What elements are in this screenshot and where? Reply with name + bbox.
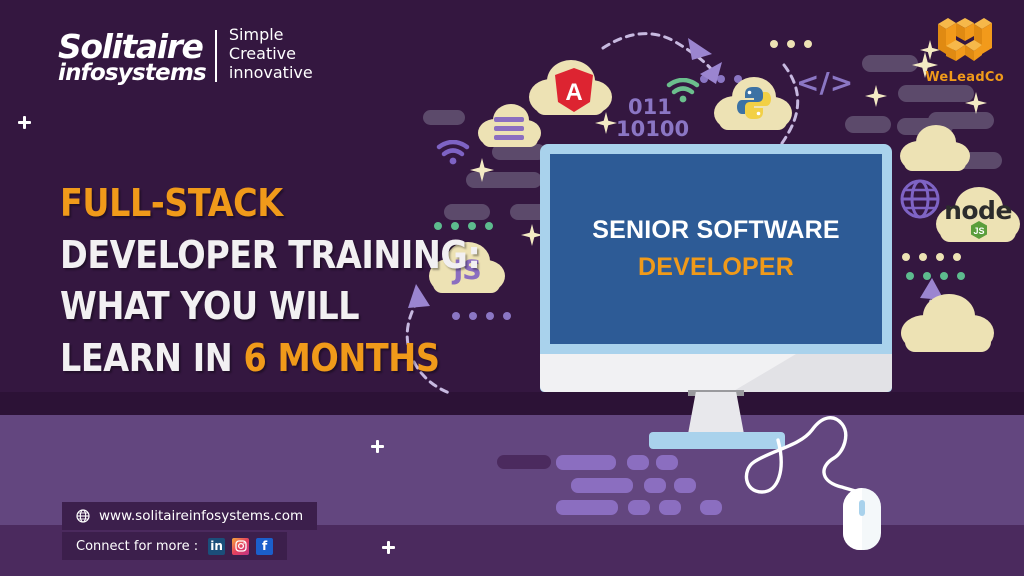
keyboard-key xyxy=(656,455,678,470)
brand-tagline: Simple Creative innovative xyxy=(229,26,313,84)
keyboard-key xyxy=(628,500,650,515)
code-symbol: </> xyxy=(796,66,853,99)
w-cube-icon xyxy=(932,14,998,64)
decor-bar xyxy=(862,55,918,72)
partner-logo[interactable]: WeLeadCo xyxy=(925,14,1004,85)
instagram-icon[interactable] xyxy=(232,538,249,555)
brand-name-secondary: infosystems xyxy=(58,63,206,83)
tagline-line-1: Simple xyxy=(229,26,313,45)
headline-line-4-prefix: LEARN IN xyxy=(60,336,244,380)
svg-text:JS: JS xyxy=(973,226,984,236)
headline-line-3: WHAT YOU WILL xyxy=(60,281,412,333)
keyboard-key xyxy=(644,478,666,493)
monitor-chin xyxy=(540,354,892,392)
keyboard-key xyxy=(700,500,722,515)
headline-line-2: DEVELOPER TRAINING: xyxy=(60,230,412,282)
company-logo[interactable]: Solitaire infosystems Simple Creative in… xyxy=(58,26,313,84)
plain-cloud xyxy=(900,290,996,352)
database-cloud-icon xyxy=(478,100,542,148)
binary-line-1: 011 xyxy=(628,96,689,118)
linkedin-icon[interactable]: in xyxy=(208,538,225,555)
decor-dot-row xyxy=(902,253,961,261)
decor-bar xyxy=(423,110,465,125)
monitor-body: SENIOR SOFTWARE DEVELOPER xyxy=(540,144,892,392)
svg-text:A: A xyxy=(565,79,582,106)
facebook-icon[interactable]: f xyxy=(256,538,273,555)
computer-mouse xyxy=(843,488,881,550)
keyboard-key xyxy=(627,455,649,470)
sparkle-icon xyxy=(965,92,987,114)
sparkle-icon xyxy=(865,85,887,107)
keyboard-key xyxy=(659,500,681,515)
monitor-neck xyxy=(688,392,744,434)
decor-bar xyxy=(898,85,974,102)
plain-cloud xyxy=(900,120,970,172)
screen-title-line2: DEVELOPER xyxy=(638,253,794,282)
globe-icon xyxy=(76,509,90,523)
binary-decoration: 011 10100 xyxy=(628,96,689,140)
website-url: www.solitaireinfosystems.com xyxy=(99,508,303,524)
wall-shadow-band xyxy=(0,392,1024,415)
partner-logo-text: WeLeadCo xyxy=(925,70,1004,85)
keyboard-key xyxy=(674,478,696,493)
tagline-line-3: innovative xyxy=(229,64,313,83)
logo-divider xyxy=(215,30,217,82)
headline-line-1: FULL-STACK xyxy=(60,178,412,230)
headline-line-4: LEARN IN 6 MONTHS xyxy=(60,333,412,385)
decor-bar xyxy=(845,116,891,133)
headline-highlight-duration: 6 MONTHS xyxy=(244,336,440,380)
decor-dot-row xyxy=(452,312,511,320)
monitor-base xyxy=(649,432,785,449)
decor-dot-row xyxy=(906,272,965,280)
brand-name-primary: Solitaire xyxy=(58,32,206,61)
promotional-banner: 011 10100 </> A xyxy=(0,0,1024,576)
decor-bar xyxy=(497,455,551,469)
nodejs-cloud-icon: node JS xyxy=(934,182,1022,244)
wifi-icon xyxy=(436,140,470,168)
website-bar[interactable]: www.solitaireinfosystems.com xyxy=(62,502,317,530)
sparkle-icon xyxy=(470,158,494,182)
screen-title-line1: SENIOR SOFTWARE xyxy=(592,216,839,245)
headline-block: FULL-STACK DEVELOPER TRAINING: WHAT YOU … xyxy=(60,178,460,385)
tagline-line-2: Creative xyxy=(229,45,313,64)
decor-dot-row xyxy=(770,40,812,48)
connect-bar: Connect for more : in f xyxy=(62,532,287,560)
python-cloud-icon xyxy=(713,72,793,132)
keyboard-key xyxy=(571,478,633,493)
keyboard-key xyxy=(556,455,616,470)
binary-line-2: 10100 xyxy=(616,118,689,140)
keyboard-key xyxy=(556,500,618,515)
connect-label: Connect for more : xyxy=(76,539,198,554)
monitor-illustration: SENIOR SOFTWARE DEVELOPER xyxy=(540,144,892,392)
monitor-screen: SENIOR SOFTWARE DEVELOPER xyxy=(550,154,882,344)
